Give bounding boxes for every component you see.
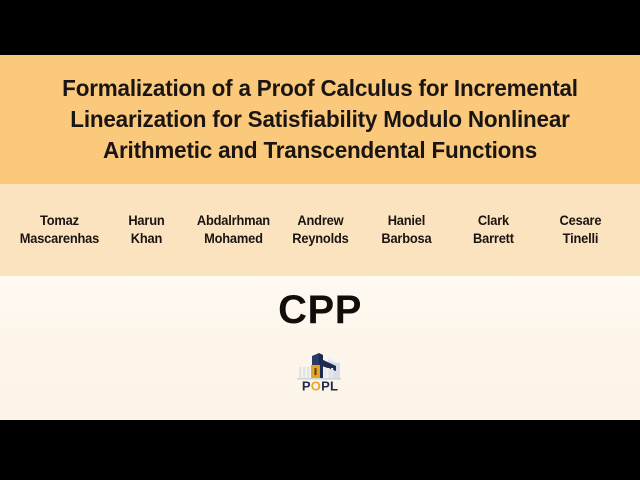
author-family-name: Mohamed <box>191 230 274 248</box>
author-family-name: Barrett <box>452 230 535 248</box>
author-given-name: Tomaz <box>18 212 101 230</box>
letterbox-bar-top <box>0 0 640 55</box>
popl-logo: POPL <box>292 348 348 392</box>
authors-list: Tomaz Mascarenhas Harun Khan Abdalrhman … <box>16 212 624 247</box>
author-given-name: Abdalrhman <box>191 212 274 230</box>
author-entry: Cesare Tinelli <box>539 212 622 247</box>
author-entry: Haniel Barbosa <box>365 212 448 247</box>
title-slide: Formalization of a Proof Calculus for In… <box>0 0 640 480</box>
author-entry: Andrew Reynolds <box>278 212 361 247</box>
author-given-name: Cesare <box>539 212 622 230</box>
author-family-name: Reynolds <box>278 230 361 248</box>
author-given-name: Haniel <box>365 212 448 230</box>
svg-text:POPL: POPL <box>302 379 338 393</box>
venue-acronym: CPP <box>0 290 640 330</box>
author-entry: Harun Khan <box>105 212 188 247</box>
author-family-name: Khan <box>105 230 188 248</box>
letterbox-bar-bottom <box>0 420 640 480</box>
author-family-name: Tinelli <box>539 230 622 248</box>
author-family-name: Mascarenhas <box>18 230 101 248</box>
content-band: CPP <box>0 276 640 420</box>
author-entry: Tomaz Mascarenhas <box>18 212 101 247</box>
author-entry: Abdalrhman Mohamed <box>191 212 274 247</box>
author-given-name: Andrew <box>278 212 361 230</box>
authors-band: Tomaz Mascarenhas Harun Khan Abdalrhman … <box>0 184 640 276</box>
paper-title: Formalization of a Proof Calculus for In… <box>34 73 607 167</box>
title-band: Formalization of a Proof Calculus for In… <box>0 55 640 184</box>
author-family-name: Barbosa <box>365 230 448 248</box>
author-entry: Clark Barrett <box>452 212 535 247</box>
author-given-name: Clark <box>452 212 535 230</box>
author-given-name: Harun <box>105 212 188 230</box>
